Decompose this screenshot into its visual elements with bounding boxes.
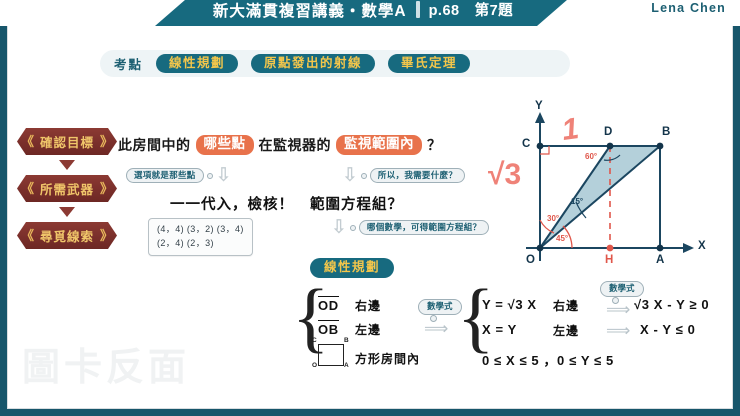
right-arrow-icon-2: ⟹	[606, 301, 630, 318]
header-bar: 新大滿貫複習講義・數學A p.68 第7題 Lena Chen	[0, 0, 740, 26]
down-triangle-icon	[17, 155, 117, 175]
lp-left-side-1: 左邊	[355, 321, 381, 338]
down-arrow-icon: ⇩	[216, 166, 232, 185]
step-badge-list: 《 》 確認目標 《 》 所需武器 《 》 尋覓線索	[17, 128, 117, 249]
flow-right-bubble-group: ⇩ 所以，我需要什麼？	[342, 166, 465, 185]
label-point-A: A	[656, 254, 664, 266]
label-axis-x: X	[698, 240, 706, 252]
angle-label-60: 60°	[585, 152, 597, 161]
keypoint-tag-row: 考點 線性規劃 原點發出的射線 畢氏定理	[100, 50, 570, 77]
candidate-points-line-2: (2，4) (2，3)	[157, 237, 244, 251]
lp-left-side-0: 右邊	[355, 297, 381, 314]
lp-middle-side-0: 右邊	[553, 297, 579, 314]
watermark-text: 圖卡反面	[22, 336, 190, 391]
room-corner-tr: B	[344, 337, 349, 344]
question-part-1: 此房間中的	[118, 135, 191, 155]
bubble-tail-dot	[361, 173, 367, 179]
label-point-B: B	[662, 126, 670, 138]
handwritten-label-sqrt3: √3	[488, 158, 521, 192]
author-name: Lena Chen	[651, 1, 726, 15]
statement-right: 範圍方程組？	[310, 193, 403, 214]
math-form-bubble-2: 數學式	[600, 281, 644, 297]
keypoint-label: 考點	[114, 54, 143, 73]
hint-bubble-left: 選項就是那些點	[126, 168, 204, 184]
math-form-bubble-1: 數學式	[418, 299, 462, 315]
diagram-svg	[492, 96, 732, 276]
question-highlight-2: 監視範圍內	[336, 135, 422, 155]
right-arrow-icon-1: ⟹	[424, 320, 448, 337]
label-point-D: D	[604, 126, 612, 138]
flow-left-bubble-group: 選項就是那些點 ⇩	[126, 166, 232, 185]
middle-brace-icon: {	[457, 278, 494, 356]
lp-middle-eq-0: Y = √3 X	[482, 297, 537, 312]
flow-right-bubble-group-2: ⇩ 哪個數學，可得範圍方程組？	[331, 218, 489, 237]
question-highlight-1: 哪些點	[196, 135, 254, 155]
room-corner-br: A	[344, 362, 349, 369]
lp-left-symbol-1: OB	[318, 320, 339, 337]
right-arrow-icon-3: ⟹	[606, 322, 630, 339]
angle-label-30: 30°	[547, 214, 559, 223]
lp-left-symbol-0: OD	[318, 296, 339, 313]
bubble-tail-dot	[350, 225, 356, 231]
room-square-icon: C B O A	[318, 344, 344, 366]
vertex-A	[657, 245, 664, 252]
question-line: 此房間中的 哪些點 在監視器的 監視範圍內 ？	[118, 135, 442, 155]
vertex-H	[607, 245, 614, 252]
question-part-2: 在監視器的	[259, 135, 332, 155]
hint-bubble-right: 所以，我需要什麼？	[370, 168, 465, 184]
page-title: 新大滿貫複習講義・數學A	[213, 0, 407, 21]
hint-bubble-right-2: 哪個數學，可得範圍方程組？	[359, 220, 489, 236]
vertex-O	[537, 245, 544, 252]
candidate-points-line-1: (4，4) (3，2) (3，4)	[157, 223, 244, 237]
step-badge-label: 尋覓線索	[17, 222, 117, 249]
lp-middle-eq-2: 0 ≤ X ≤ 5 ，0 ≤ Y ≤ 5	[482, 350, 614, 369]
step-badge-confirm-goal[interactable]: 《 》 確認目標	[17, 128, 117, 155]
vertex-C	[537, 143, 544, 150]
label-axis-y: Y	[535, 100, 543, 112]
label-point-O: O	[526, 254, 535, 266]
room-corner-bl: O	[312, 362, 317, 369]
down-triangle-icon	[17, 202, 117, 222]
tag-pill-0[interactable]: 線性規劃	[156, 54, 238, 74]
vertex-D	[607, 143, 614, 150]
title-separator	[416, 1, 420, 18]
label-point-C: C	[522, 138, 530, 150]
vertex-B	[657, 143, 664, 150]
lp-result-0: √3 X - Y ≥ 0	[634, 297, 709, 312]
lp-left-side-2: 方形房間內	[355, 350, 420, 367]
bubble-tail-dot	[207, 173, 213, 179]
geometry-diagram: Y X O A B C D H 30° 45° 15° 60° 1 √3	[492, 96, 732, 276]
question-part-3: ？	[427, 135, 442, 155]
step-badge-find-clue[interactable]: 《 》 尋覓線索	[17, 222, 117, 249]
step-badge-label: 所需武器	[17, 175, 117, 202]
tag-pill-2[interactable]: 畢氏定理	[388, 54, 470, 74]
room-square-shape	[318, 344, 344, 366]
room-corner-tl: C	[312, 337, 317, 344]
label-point-H: H	[605, 254, 613, 266]
lp-middle-eq-1: X = Y	[482, 322, 517, 337]
angle-label-15: 15°	[571, 197, 583, 206]
down-arrow-icon: ⇩	[342, 166, 358, 185]
y-axis-arrowhead	[535, 112, 545, 123]
candidate-points-box: (4，4) (3，2) (3，4) (2，4) (2，3)	[148, 218, 253, 256]
angle-label-45: 45°	[556, 234, 568, 243]
title-ribbon: 新大滿貫複習講義・數學A p.68 第7題	[155, 0, 575, 26]
down-arrow-icon: ⇩	[331, 218, 347, 237]
lp-middle-side-1: 左邊	[553, 322, 579, 339]
statement-left: 一一代入，檢核！	[170, 193, 294, 214]
page-number-label: p.68 第7題	[429, 0, 514, 20]
step-badge-label: 確認目標	[17, 128, 117, 155]
tag-pill-1[interactable]: 原點發出的射線	[251, 54, 375, 74]
lp-result-1: X - Y ≤ 0	[640, 322, 695, 337]
step-badge-needed-weapon[interactable]: 《 》 所需武器	[17, 175, 117, 202]
x-axis-arrowhead	[683, 243, 694, 253]
